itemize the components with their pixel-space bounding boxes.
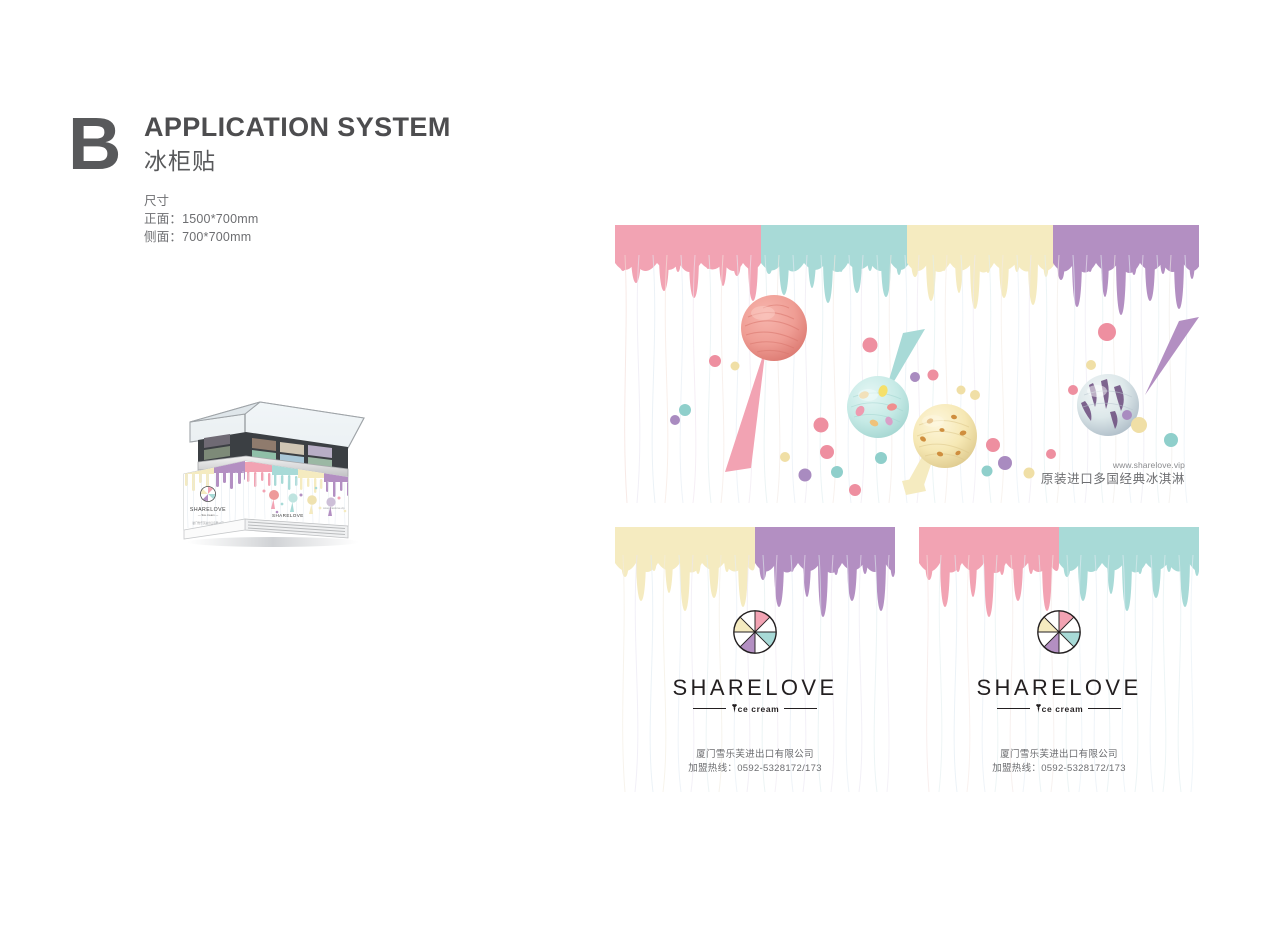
spec-line-front: 正面：1500*700mm xyxy=(144,210,444,228)
ice-cream-freezer-photo: SHARELOVE — ♥ce cream — 厦门雪乐芙进出口有限公司 xyxy=(168,378,388,548)
logo-tagline: ce cream xyxy=(693,703,817,714)
cone-purple xyxy=(1145,317,1199,395)
wordmark: SHARELOVE xyxy=(672,676,837,700)
mint-candy-scoop xyxy=(847,376,909,438)
svg-text:— ♥ce cream —: — ♥ce cream — xyxy=(198,513,219,517)
page-title: APPLICATION SYSTEM xyxy=(144,112,584,142)
mockup-front-panel: SHAREL xyxy=(615,225,1199,503)
spec-label: 尺寸 xyxy=(144,192,444,210)
pinwheel-logo-icon xyxy=(1036,609,1082,660)
wordmark: SHARELOVE xyxy=(976,676,1141,700)
page-subtitle: 冰柜贴 xyxy=(144,146,584,176)
brand-lockup-side-left: SHARELOVE ce cream 厦门雪乐芙进出口有限公司 加盟热线：059… xyxy=(615,609,895,776)
freezer-illustration: SHARELOVE — ♥ce cream — 厦门雪乐芙进出口有限公司 xyxy=(168,378,388,548)
page-header: B APPLICATION SYSTEM 冰柜贴 尺寸 正面：1500*700m… xyxy=(68,112,588,262)
company-hotline: 加盟热线：0592-5328172/173 xyxy=(992,762,1126,776)
company-name: 厦门雪乐芙进出口有限公司 xyxy=(688,748,822,762)
logo-rule-right xyxy=(1088,708,1121,709)
company-info: 厦门雪乐芙进出口有限公司 加盟热线：0592-5328172/173 xyxy=(992,748,1126,776)
ice-cream-cone-icon xyxy=(731,703,738,714)
logo-rule-left xyxy=(997,708,1030,709)
brand-lockup-side-right: SHARELOVE ce cream 厦门雪乐芙进出口有限公司 加盟热线：059… xyxy=(919,609,1199,776)
logo-rule-left xyxy=(693,708,726,709)
vanilla-nut-scoop xyxy=(913,404,977,468)
ice-cream-cone-icon xyxy=(1035,703,1042,714)
mockup-side-panel-left: SHARELOVE ce cream 厦门雪乐芙进出口有限公司 加盟热线：059… xyxy=(615,527,895,792)
brand-url: www.sharelove.vip xyxy=(1041,460,1185,471)
company-name: 厦门雪乐芙进出口有限公司 xyxy=(992,748,1126,762)
pinwheel-logo-icon xyxy=(732,609,778,660)
logo-rule-right xyxy=(784,708,817,709)
logo-tagline-text: ce cream xyxy=(738,704,780,714)
header-texts: APPLICATION SYSTEM 冰柜贴 xyxy=(144,112,584,176)
svg-text:SHARELOVE: SHARELOVE xyxy=(272,513,304,518)
brand-cn-tagline: 原装进口多国经典冰淇淋 xyxy=(1041,471,1185,487)
mockup-side-panel-right: SHARELOVE ce cream 厦门雪乐芙进出口有限公司 加盟热线：059… xyxy=(919,527,1199,792)
company-info: 厦门雪乐芙进出口有限公司 加盟热线：0592-5328172/173 xyxy=(688,748,822,776)
page-root: B APPLICATION SYSTEM 冰柜贴 尺寸 正面：1500*700m… xyxy=(0,0,1280,927)
spec-line-side: 侧面：700*700mm xyxy=(144,228,444,246)
section-letter: B xyxy=(68,112,130,180)
front-panel-tagline: www.sharelove.vip 原装进口多国经典冰淇淋 xyxy=(1041,460,1185,487)
blueberry-swirl-scoop xyxy=(1077,374,1139,436)
strawberry-scoop xyxy=(741,295,807,361)
spec-block: 尺寸 正面：1500*700mm 侧面：700*700mm xyxy=(144,192,444,246)
svg-text:www.sharelove.vip: www.sharelove.vip xyxy=(323,506,345,510)
logo-tagline: ce cream xyxy=(997,703,1121,714)
company-hotline: 加盟热线：0592-5328172/173 xyxy=(688,762,822,776)
logo-tagline-text: ce cream xyxy=(1042,704,1084,714)
